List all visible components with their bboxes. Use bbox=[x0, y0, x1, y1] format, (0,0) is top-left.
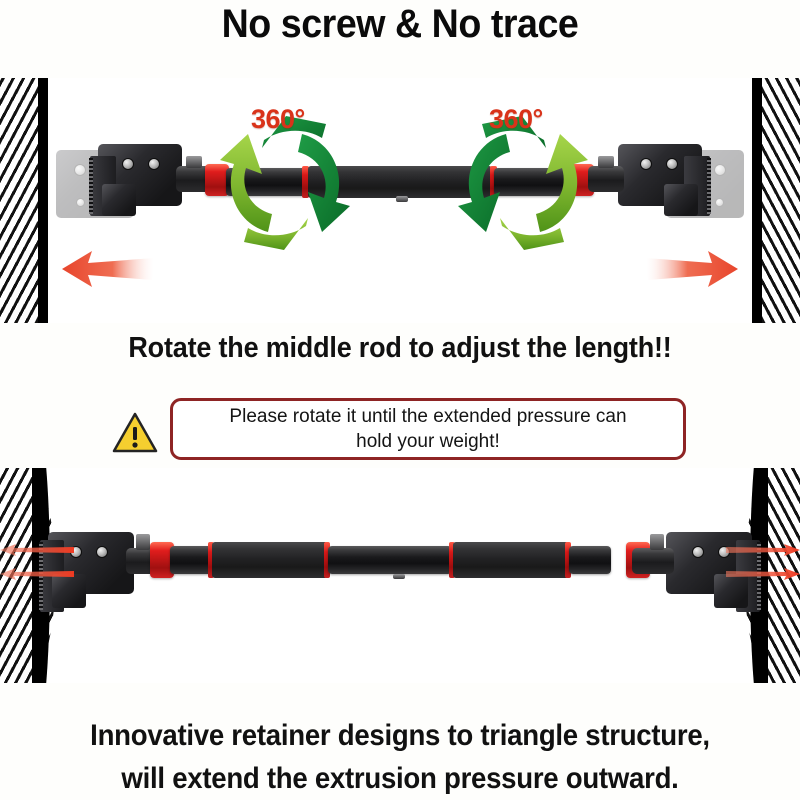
bar-shaft-right bbox=[569, 546, 611, 574]
bar-knob-left bbox=[136, 534, 150, 550]
warning-triangle-icon bbox=[112, 412, 158, 454]
warning-text-line2: hold your weight! bbox=[356, 431, 500, 452]
caption-middle: Rotate the middle rod to adjust the leng… bbox=[28, 332, 772, 365]
bar-joint-right bbox=[632, 548, 674, 574]
bar-shaft-left bbox=[170, 546, 212, 574]
pressure-arrow-icon-left-lower bbox=[0, 568, 74, 580]
bar-knob-left bbox=[186, 156, 202, 168]
page-title: No screw & No trace bbox=[24, 2, 776, 47]
warning-box: Please rotate it until the extended pres… bbox=[170, 398, 686, 460]
product-infographic: No screw & No trace bbox=[0, 0, 800, 800]
bar-shaft-center bbox=[328, 546, 452, 574]
wall-edge bbox=[752, 78, 762, 323]
bar-knob-right bbox=[598, 156, 614, 168]
arrow-left-icon bbox=[60, 248, 156, 290]
wall-left-top bbox=[0, 78, 48, 323]
bar-knob-right bbox=[650, 534, 664, 550]
pressure-arrow-icon-right-lower bbox=[726, 568, 800, 580]
warning-text: Please rotate it until the extended pres… bbox=[219, 404, 636, 454]
rotation-label-right: 360° bbox=[489, 104, 543, 135]
rotation-label-left: 360° bbox=[251, 104, 305, 135]
wall-right-top bbox=[752, 78, 800, 323]
pressure-arrow-icon-right-upper bbox=[726, 544, 800, 556]
caption-bottom: Innovative retainer designs to triangle … bbox=[32, 714, 768, 800]
top-illustration-panel: 360° 360° bbox=[0, 78, 800, 323]
bar-foam-grip-2 bbox=[453, 542, 569, 578]
warning-text-line1: Please rotate it until the extended pres… bbox=[229, 406, 626, 427]
bar-foam-grip-1 bbox=[212, 542, 328, 578]
bottom-illustration-panel bbox=[0, 468, 800, 683]
bar-knob-center bbox=[393, 574, 405, 579]
warning-notice: Please rotate it until the extended pres… bbox=[112, 398, 692, 464]
pressure-arrow-icon-left-upper bbox=[0, 544, 74, 556]
bar-knob-middle bbox=[396, 196, 408, 202]
caption-bottom-line1: Innovative retainer designs to triangle … bbox=[90, 719, 710, 752]
wall-edge bbox=[38, 78, 48, 323]
arrow-right-icon bbox=[644, 248, 740, 290]
caption-bottom-line2: will extend the extrusion pressure outwa… bbox=[121, 762, 678, 795]
